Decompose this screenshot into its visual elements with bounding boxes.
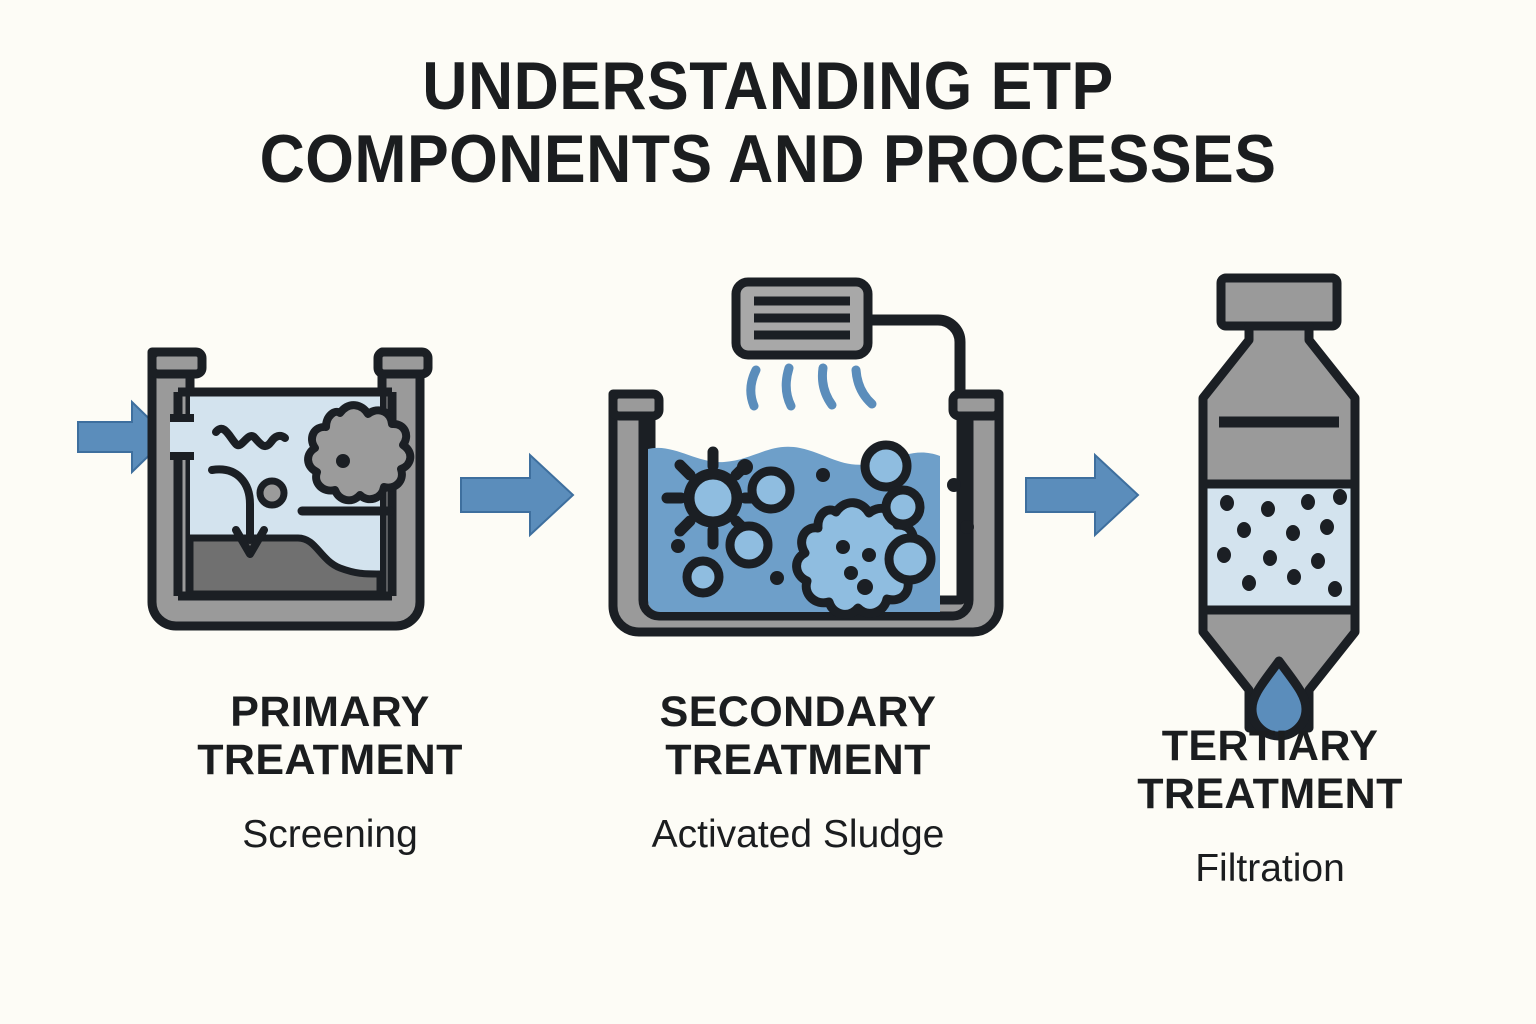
media-grain	[1328, 581, 1342, 597]
micro-dot	[737, 459, 753, 475]
media-grain	[1242, 575, 1256, 591]
micro-dot	[960, 520, 974, 534]
bubble-ring	[687, 561, 719, 593]
stage-heading-secondary-line2: TREATMENT	[508, 736, 1088, 784]
secondary-flange-left	[613, 394, 659, 416]
media-grain	[1237, 522, 1251, 538]
media-grain	[1220, 495, 1234, 511]
media-grain	[1333, 489, 1347, 505]
air-supply-pipe	[866, 320, 960, 402]
micro-dot	[770, 571, 784, 585]
secondary-flange-right	[953, 394, 999, 416]
bubble-ring	[730, 526, 768, 564]
caption-secondary: SECONDARY TREATMENT Activated Sludge	[508, 688, 1088, 859]
stage-subtitle-tertiary: Filtration	[1010, 846, 1530, 893]
stage-subtitle-secondary: Activated Sludge	[508, 812, 1088, 859]
air-streaks-icon	[751, 368, 872, 406]
micro-dot	[857, 579, 873, 595]
flow-arrow-secondary-to-tertiary	[1026, 455, 1138, 535]
filter-upper-body	[1203, 326, 1355, 484]
media-grain	[1286, 525, 1300, 541]
bubble-ring	[886, 490, 920, 524]
media-grain	[1301, 494, 1315, 510]
media-grain	[1320, 519, 1334, 535]
bubble-ring	[752, 471, 790, 509]
primary-inlet-port	[170, 418, 194, 456]
tank-flange-left	[152, 352, 202, 374]
filter-cap	[1221, 278, 1337, 326]
flow-arrow-primary-to-secondary	[461, 455, 573, 535]
media-grain	[1263, 550, 1277, 566]
tank-flange-right	[378, 352, 428, 374]
bubble-ring	[865, 445, 907, 487]
micro-dot	[816, 468, 830, 482]
micro-dot	[671, 539, 685, 553]
caption-tertiary: TERTIARY TREATMENT Filtration	[1010, 722, 1530, 893]
primary-clarifier-tank-icon	[152, 352, 428, 626]
floc-nucleus	[336, 454, 350, 468]
media-grain	[1261, 501, 1275, 517]
floc-particle-icon	[308, 405, 410, 500]
stage-heading-tertiary-line2: TREATMENT	[1010, 770, 1530, 818]
stage-heading-tertiary-line1: TERTIARY	[1010, 722, 1530, 770]
micro-dot	[947, 478, 961, 492]
bubble-ring	[889, 538, 931, 580]
stage-heading-secondary-line1: SECONDARY	[508, 688, 1088, 736]
small-particle-icon	[260, 481, 284, 505]
aeration-tank-icon	[613, 282, 999, 636]
media-grain	[1287, 569, 1301, 585]
infographic-canvas: UNDERSTANDING ETP COMPONENTS AND PROCESS…	[0, 0, 1536, 1024]
media-grain	[1217, 547, 1231, 563]
media-grain	[1311, 553, 1325, 569]
filter-vessel-icon	[1203, 278, 1355, 736]
